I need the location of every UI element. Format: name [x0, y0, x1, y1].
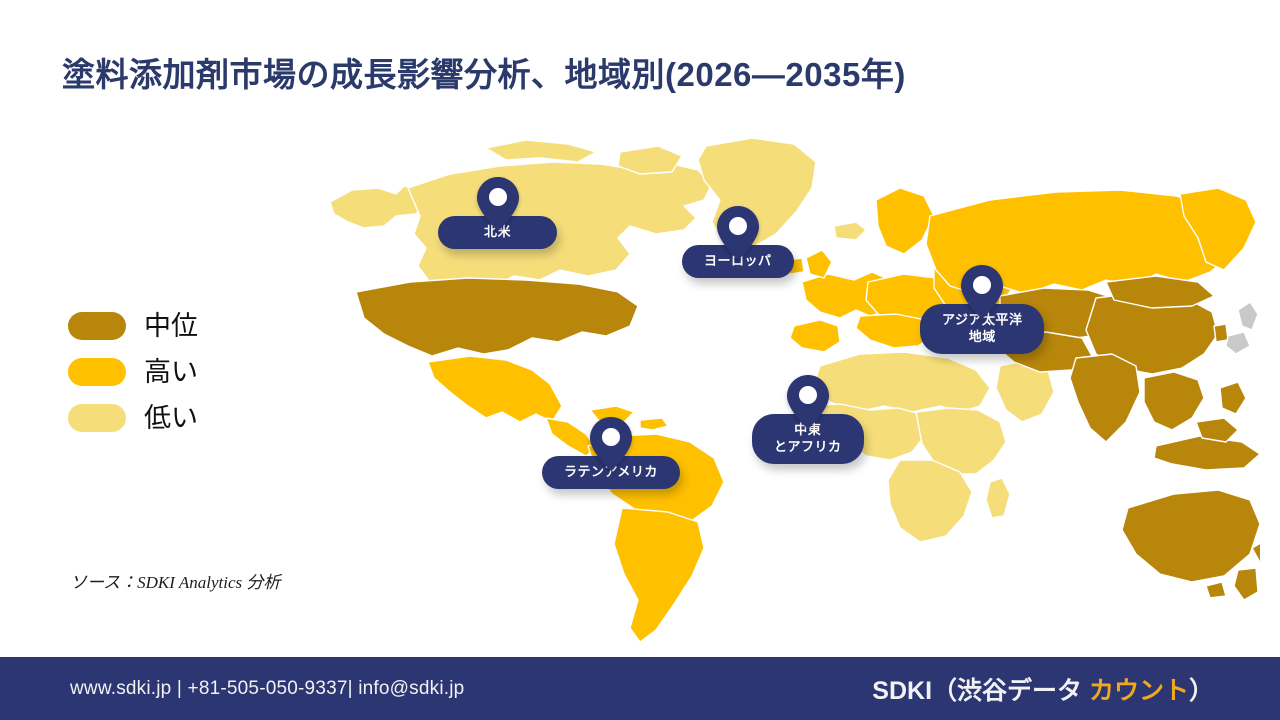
- marker-middle-east-africa[interactable]: 中東 とアフリカ: [752, 374, 864, 464]
- legend-swatch-medium: [68, 312, 126, 340]
- region-south-america-south: [614, 508, 704, 642]
- marker-north-america[interactable]: 北米: [438, 176, 557, 249]
- marker-asia-pacific[interactable]: アジア太平洋 地域: [920, 264, 1044, 354]
- region-australia: [1122, 490, 1260, 582]
- region-united-states: [356, 278, 638, 356]
- footer-brand-main: SDKI（渋谷データ: [872, 677, 1089, 705]
- legend-label-high: 高い: [144, 359, 198, 386]
- source-note: ソース：SDKI Analytics 分析: [70, 568, 280, 593]
- legend-swatch-low: [68, 404, 126, 432]
- legend-item-medium: 中位: [68, 312, 198, 340]
- legend-item-high: 高い: [68, 358, 198, 386]
- region-southeast-asia: [1144, 372, 1204, 430]
- region-southern-africa: [888, 460, 972, 542]
- marker-europe[interactable]: ヨーロッパ: [682, 205, 794, 278]
- region-japan: [1238, 302, 1258, 330]
- region-scandinavia: [876, 188, 934, 254]
- slide-root: 塗料添加剤市場の成長影響分析、地域別(2026—2035年) 中位 高い 低い …: [0, 0, 1280, 720]
- map-pin-icon: [476, 176, 520, 232]
- region-iceland: [834, 222, 866, 240]
- region-canada-arctic: [486, 140, 596, 162]
- footer-contact-info: www.sdki.jp | +81-505-050-9337| info@sdk…: [70, 678, 464, 700]
- region-borneo: [1196, 418, 1238, 442]
- map-pin-icon: [716, 205, 760, 261]
- legend-item-low: 低い: [68, 404, 198, 432]
- legend-swatch-high: [68, 358, 126, 386]
- region-new-zealand-south: [1234, 568, 1258, 600]
- region-iberia: [790, 320, 840, 352]
- footer-bar: www.sdki.jp | +81-505-050-9337| info@sdk…: [0, 657, 1280, 720]
- legend-label-low: 低い: [144, 405, 198, 432]
- region-mexico: [428, 356, 562, 422]
- region-baffin: [618, 146, 682, 174]
- footer-brand: SDKI（渋谷データ カウント）: [872, 671, 1214, 707]
- legend: 中位 高い 低い: [68, 312, 198, 432]
- region-korea: [1214, 324, 1228, 342]
- footer-brand-tail: ）: [1189, 677, 1214, 705]
- map-pin-icon: [786, 374, 830, 430]
- region-tasmania: [1206, 582, 1226, 598]
- legend-label-medium: 中位: [144, 313, 198, 340]
- page-title: 塗料添加剤市場の成長影響分析、地域別(2026—2035年): [62, 54, 1162, 95]
- region-japan-south: [1226, 332, 1250, 354]
- region-india: [1070, 354, 1140, 442]
- region-madagascar: [986, 478, 1010, 518]
- map-pin-icon: [589, 416, 633, 472]
- region-philippines: [1220, 382, 1246, 414]
- marker-latin-america[interactable]: ラテンアメリカ: [542, 416, 680, 489]
- footer-brand-accent: カウント: [1089, 677, 1189, 705]
- region-indonesia: [1154, 436, 1260, 470]
- map-pin-icon: [960, 264, 1004, 320]
